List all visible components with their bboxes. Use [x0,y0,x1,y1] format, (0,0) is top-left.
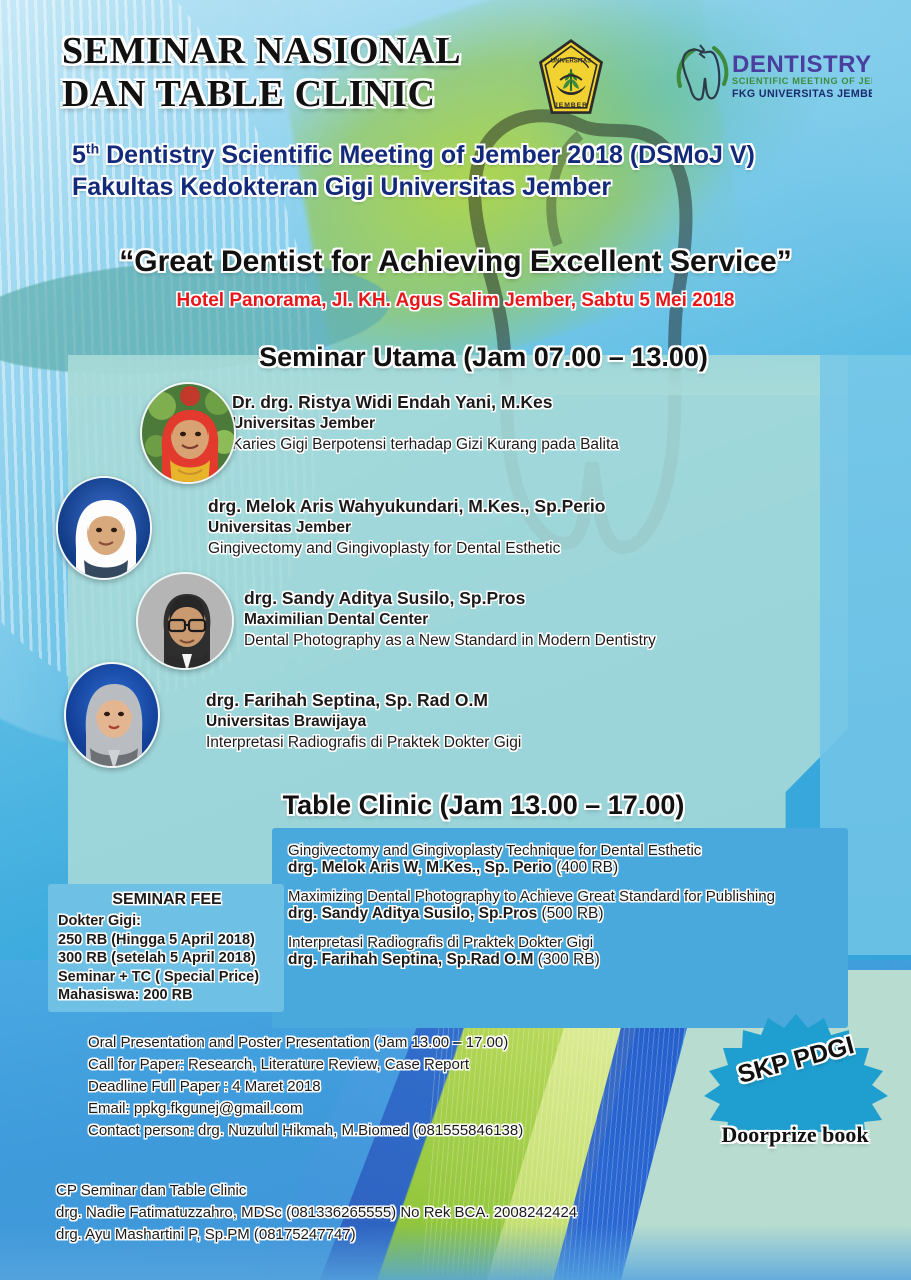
tc-presenter-3: drg. Farihah Septina, Sp.Rad O.M (300 RB… [288,951,834,969]
tc-presenter-name-2: drg. Sandy Aditya Susilo, Sp.Pros [288,905,537,922]
speaker-1-text: Dr. drg. Ristya Widi Endah Yani, M.Kes U… [232,392,832,454]
speaker-4-topic: Interpretasi Radiografis di Praktek Dokt… [206,734,826,752]
poster-theme: “Great Dentist for Achieving Excellent S… [0,245,911,279]
speaker-photo-farihah [64,662,160,768]
speaker-entry-2: drg. Melok Aris Wahyukundari, M.Kes., Sp… [208,496,828,558]
doorprize-label: Doorprize book [690,1122,900,1148]
speaker-4-affiliation: Universitas Brawijaya [206,713,826,731]
seminar-fee-box: SEMINAR FEE Dokter Gigi: 250 RB (Hingga … [48,884,284,1012]
info-line-3: Deadline Full Paper : 4 Maret 2018 [88,1076,708,1098]
table-clinic-item-2: Maximizing Dental Photography to Achieve… [288,888,834,923]
unej-bottom-text: JEMBER [554,102,588,109]
cp-line-2: drg. Nadie Fatimatuzzahro, MDSc (0813362… [56,1202,696,1224]
speaker-photo-sandy [136,572,234,670]
dentistry-tagline: SCIENTIFIC MEETING OF JEMBER [732,76,872,86]
speaker-photo-ristya [140,382,236,484]
seminar-utama-heading: Seminar Utama (Jam 07.00 – 13.00) [28,342,911,373]
subtitle-line-1-rest: Dentistry Scientific Meeting of Jember 2… [99,141,755,169]
table-clinic-item-1: Gingivectomy and Gingivoplasty Technique… [288,842,834,877]
subtitle-line-1: 5th Dentistry Scientific Meeting of Jemb… [72,140,832,172]
call-for-paper-info: Oral Presentation and Poster Presentatio… [88,1032,708,1142]
speaker-entry-4: drg. Farihah Septina, Sp. Rad O.M Univer… [206,690,826,752]
speaker-entry-1: Dr. drg. Ristya Widi Endah Yani, M.Kes U… [232,392,832,454]
fee-line-2: 250 RB (Hingga 5 April 2018) [58,931,276,950]
speaker-3-name: drg. Sandy Aditya Susilo, Sp.Pros [244,588,864,609]
subtitle-ordinal-number: 5 [72,141,86,169]
speaker-3-text: drg. Sandy Aditya Susilo, Sp.Pros Maximi… [244,588,864,650]
cp-line-3: drg. Ayu Mashartini P, Sp.PM (0817524774… [56,1224,696,1246]
dentistry-logo: DENTISTRY SCIENTIFIC MEETING OF JEMBER F… [672,40,872,108]
speaker-3-affiliation: Maximilian Dental Center [244,611,864,629]
speaker-2-topic: Gingivectomy and Gingivoplasty for Denta… [208,540,828,558]
table-clinic-item-3: Interpretasi Radiografis di Praktek Dokt… [288,934,834,969]
poster-subtitle: 5th Dentistry Scientific Meeting of Jemb… [72,140,832,203]
tc-topic-3: Interpretasi Radiografis di Praktek Dokt… [288,934,834,951]
speaker-1-name: Dr. drg. Ristya Widi Endah Yani, M.Kes [232,392,832,413]
tc-presenter-1: drg. Melok Aris W, M.Kes., Sp. Perio (40… [288,859,834,877]
poster-root: SEMINAR NASIONAL DAN TABLE CLINIC UNIVER… [0,0,911,1280]
table-clinic-heading: Table Clinic (Jam 13.00 – 17.00) [28,790,911,821]
unej-top-text: UNIVERSITAS [551,57,592,64]
speaker-3-topic: Dental Photography as a New Standard in … [244,632,864,650]
tc-topic-2: Maximizing Dental Photography to Achieve… [288,888,834,905]
fee-line-1: Dokter Gigi: [58,912,276,931]
seminar-fee-title: SEMINAR FEE [58,891,276,909]
info-line-2: Call for Paper: Research, Literature Rev… [88,1054,708,1076]
tc-price-value-2: (500 RB) [542,905,604,922]
speaker-photo-melok [56,476,152,580]
cp-line-1: CP Seminar dan Table Clinic [56,1180,696,1202]
fee-line-3: 300 RB (setelah 5 April 2018) [58,949,276,968]
info-line-1: Oral Presentation and Poster Presentatio… [88,1032,708,1054]
info-email-line[interactable]: Email: ppkg.fkgunej@gmail.com [88,1098,708,1120]
info-contact-line: Contact person: drg. Nuzulul Hikmah, M.B… [88,1120,708,1142]
speaker-2-text: drg. Melok Aris Wahyukundari, M.Kes., Sp… [208,496,828,558]
contact-person-block: CP Seminar dan Table Clinic drg. Nadie F… [56,1180,696,1246]
tc-presenter-name-3: drg. Farihah Septina, Sp.Rad O.M [288,951,533,968]
poster-title: SEMINAR NASIONAL DAN TABLE CLINIC [62,30,532,115]
universitas-jember-logo: UNIVERSITAS JEMBER [537,38,605,118]
title-line-2: DAN TABLE CLINIC [62,73,532,116]
tc-presenter-name-1: drg. Melok Aris W, M.Kes., Sp. Perio [288,859,552,876]
subtitle-ordinal-suffix: th [86,141,99,157]
speaker-1-affiliation: Universitas Jember [232,415,832,433]
speaker-entry-3: drg. Sandy Aditya Susilo, Sp.Pros Maximi… [244,588,864,650]
dentistry-wordmark: DENTISTRY [732,51,872,78]
dentistry-faculty: FKG UNIVERSITAS JEMBER [732,88,872,100]
speaker-2-name: drg. Melok Aris Wahyukundari, M.Kes., Sp… [208,496,828,517]
poster-venue: Hotel Panorama, Jl. KH. Agus Salim Jembe… [0,290,911,312]
speaker-4-text: drg. Farihah Septina, Sp. Rad O.M Univer… [206,690,826,752]
fee-line-5: Mahasiswa: 200 RB [58,986,276,1005]
speaker-1-topic: Karies Gigi Berpotensi terhadap Gizi Kur… [232,436,832,454]
speaker-4-name: drg. Farihah Septina, Sp. Rad O.M [206,690,826,711]
title-line-1: SEMINAR NASIONAL [62,30,532,73]
tc-topic-1: Gingivectomy and Gingivoplasty Technique… [288,842,834,859]
tc-price-value-3: (300 RB) [538,951,600,968]
tc-presenter-2: drg. Sandy Aditya Susilo, Sp.Pros (500 R… [288,905,834,923]
speaker-2-affiliation: Universitas Jember [208,519,828,537]
subtitle-line-2: Fakultas Kedokteran Gigi Universitas Jem… [72,172,832,204]
table-clinic-box: Gingivectomy and Gingivoplasty Technique… [272,828,848,1028]
skp-pdgi-badge: SKP PDGI [700,1012,892,1132]
fee-line-4: Seminar + TC ( Special Price) [58,968,276,987]
tc-price-value-1: (400 RB) [556,859,618,876]
